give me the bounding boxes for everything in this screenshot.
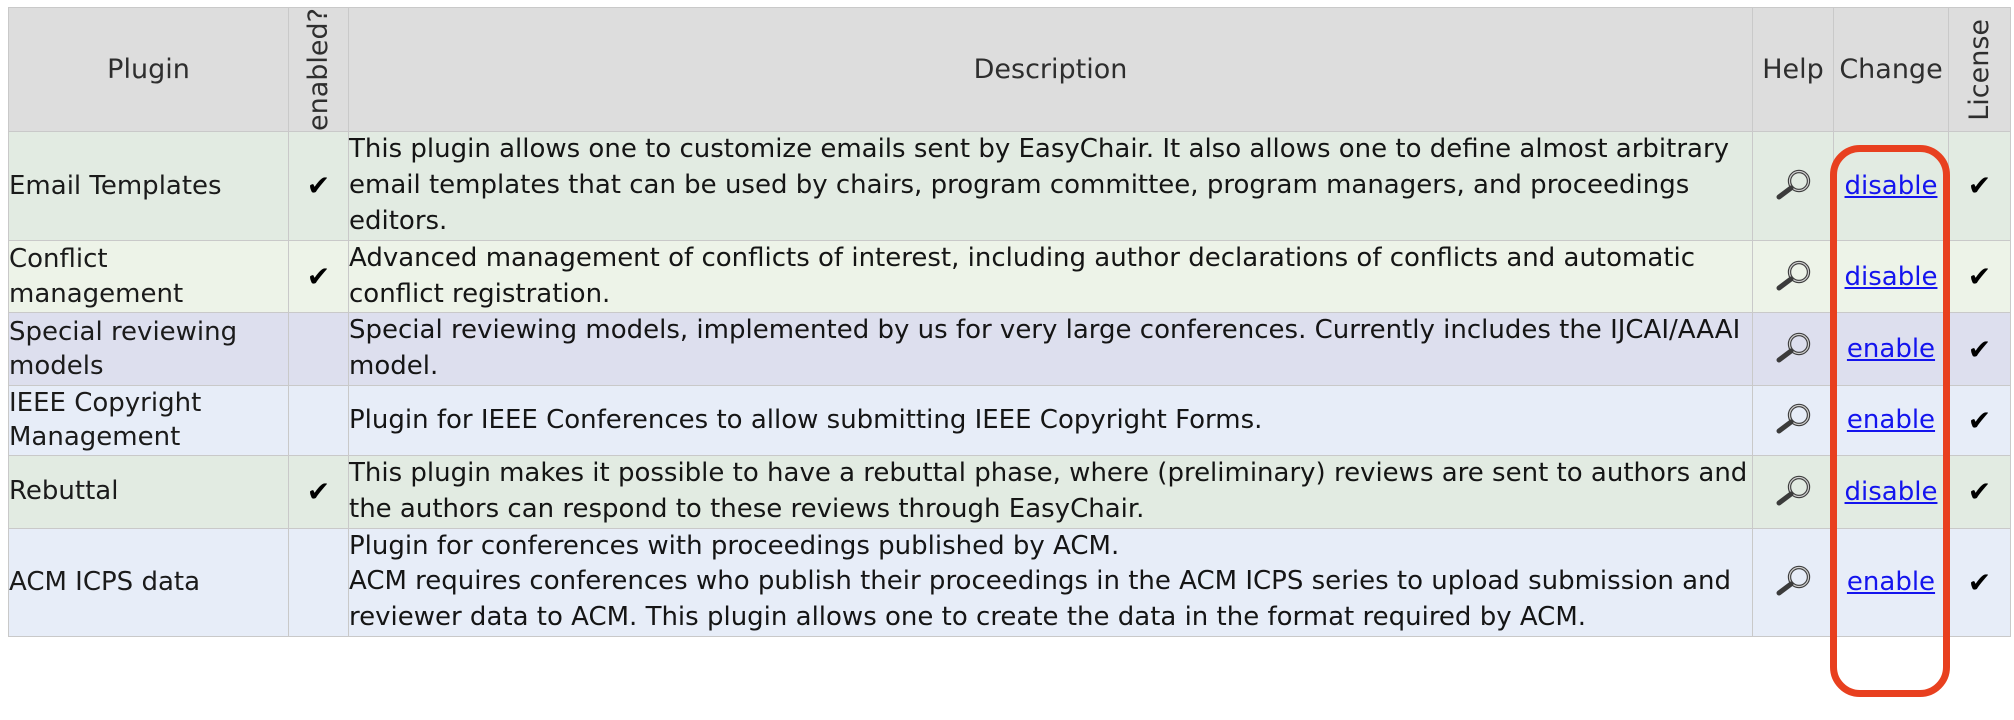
- cell-license-check: ✔: [1949, 313, 2011, 386]
- description-line-0: This plugin makes it possible to have a …: [349, 456, 1752, 528]
- table-row: ACM ICPS dataPlugin for conferences with…: [9, 528, 2011, 637]
- cell-help[interactable]: [1753, 313, 1834, 386]
- description-line-0: Plugin for conferences with proceedings …: [349, 529, 1752, 565]
- column-header-enabled: enabled?: [289, 8, 349, 132]
- cell-help[interactable]: [1753, 455, 1834, 528]
- cell-help[interactable]: [1753, 240, 1834, 313]
- magnifying-glass-icon[interactable]: [1772, 175, 1814, 194]
- change-link-disable[interactable]: disable: [1845, 477, 1938, 507]
- column-header-license: License: [1949, 8, 2011, 132]
- cell-description: Plugin for conferences with proceedings …: [349, 528, 1753, 637]
- change-link-disable[interactable]: disable: [1845, 262, 1938, 292]
- magnifying-glass-icon[interactable]: [1772, 266, 1814, 285]
- cell-enabled-check: [289, 386, 349, 456]
- magnifying-glass-icon[interactable]: [1772, 410, 1814, 429]
- description-line-0: Special reviewing models, implemented by…: [349, 313, 1752, 385]
- cell-change[interactable]: enable: [1834, 386, 1949, 456]
- plugins-table: Plugin enabled? Description Help Change …: [8, 7, 2011, 637]
- cell-plugin-name: Rebuttal: [9, 455, 289, 528]
- description-line-0: This plugin allows one to customize emai…: [349, 132, 1752, 240]
- column-header-description: Description: [349, 8, 1753, 132]
- cell-enabled-check: [289, 528, 349, 637]
- description-line-0: Advanced management of conflicts of inte…: [349, 241, 1752, 313]
- header-row: Plugin enabled? Description Help Change …: [9, 8, 2011, 132]
- table-row: Conflict management✔Advanced management …: [9, 240, 2011, 313]
- change-link-enable[interactable]: enable: [1847, 405, 1935, 435]
- table-row: Special reviewing modelsSpecial reviewin…: [9, 313, 2011, 386]
- cell-change[interactable]: enable: [1834, 528, 1949, 637]
- cell-description: Advanced management of conflicts of inte…: [349, 240, 1753, 313]
- column-header-plugin: Plugin: [9, 8, 289, 132]
- cell-enabled-check: ✔: [289, 455, 349, 528]
- cell-help[interactable]: [1753, 132, 1834, 241]
- table-header: Plugin enabled? Description Help Change …: [9, 8, 2011, 132]
- cell-enabled-check: ✔: [289, 132, 349, 241]
- cell-license-check: ✔: [1949, 386, 2011, 456]
- change-link-disable[interactable]: disable: [1845, 171, 1938, 201]
- cell-license-check: ✔: [1949, 528, 2011, 637]
- cell-description: This plugin allows one to customize emai…: [349, 132, 1753, 241]
- cell-description: Plugin for IEEE Conferences to allow sub…: [349, 386, 1753, 456]
- cell-change[interactable]: disable: [1834, 240, 1949, 313]
- cell-description: Special reviewing models, implemented by…: [349, 313, 1753, 386]
- cell-plugin-name: ACM ICPS data: [9, 528, 289, 637]
- description-line-1: ACM requires conferences who publish the…: [349, 564, 1752, 636]
- column-header-license-label: License: [1966, 19, 1993, 121]
- cell-license-check: ✔: [1949, 240, 2011, 313]
- cell-help[interactable]: [1753, 386, 1834, 456]
- plugins-page: Plugin enabled? Description Help Change …: [0, 0, 2014, 720]
- cell-change[interactable]: enable: [1834, 313, 1949, 386]
- description-line-0: Plugin for IEEE Conferences to allow sub…: [349, 403, 1752, 439]
- cell-plugin-name: Special reviewing models: [9, 313, 289, 386]
- cell-change[interactable]: disable: [1834, 132, 1949, 241]
- table-row: IEEE Copyright ManagementPlugin for IEEE…: [9, 386, 2011, 456]
- change-link-enable[interactable]: enable: [1847, 567, 1935, 597]
- table-row: Rebuttal✔This plugin makes it possible t…: [9, 455, 2011, 528]
- cell-enabled-check: ✔: [289, 240, 349, 313]
- cell-help[interactable]: [1753, 528, 1834, 637]
- cell-license-check: ✔: [1949, 132, 2011, 241]
- cell-plugin-name: Email Templates: [9, 132, 289, 241]
- cell-enabled-check: [289, 313, 349, 386]
- magnifying-glass-icon[interactable]: [1772, 339, 1814, 358]
- change-link-enable[interactable]: enable: [1847, 334, 1935, 364]
- table-row: Email Templates✔This plugin allows one t…: [9, 132, 2011, 241]
- magnifying-glass-icon[interactable]: [1772, 572, 1814, 591]
- cell-plugin-name: IEEE Copyright Management: [9, 386, 289, 456]
- cell-plugin-name: Conflict management: [9, 240, 289, 313]
- column-header-change: Change: [1834, 8, 1949, 132]
- cell-license-check: ✔: [1949, 455, 2011, 528]
- column-header-help: Help: [1753, 8, 1834, 132]
- magnifying-glass-icon[interactable]: [1772, 481, 1814, 500]
- cell-change[interactable]: disable: [1834, 455, 1949, 528]
- column-header-enabled-label: enabled?: [305, 8, 332, 131]
- cell-description: This plugin makes it possible to have a …: [349, 455, 1753, 528]
- table-body: Email Templates✔This plugin allows one t…: [9, 132, 2011, 637]
